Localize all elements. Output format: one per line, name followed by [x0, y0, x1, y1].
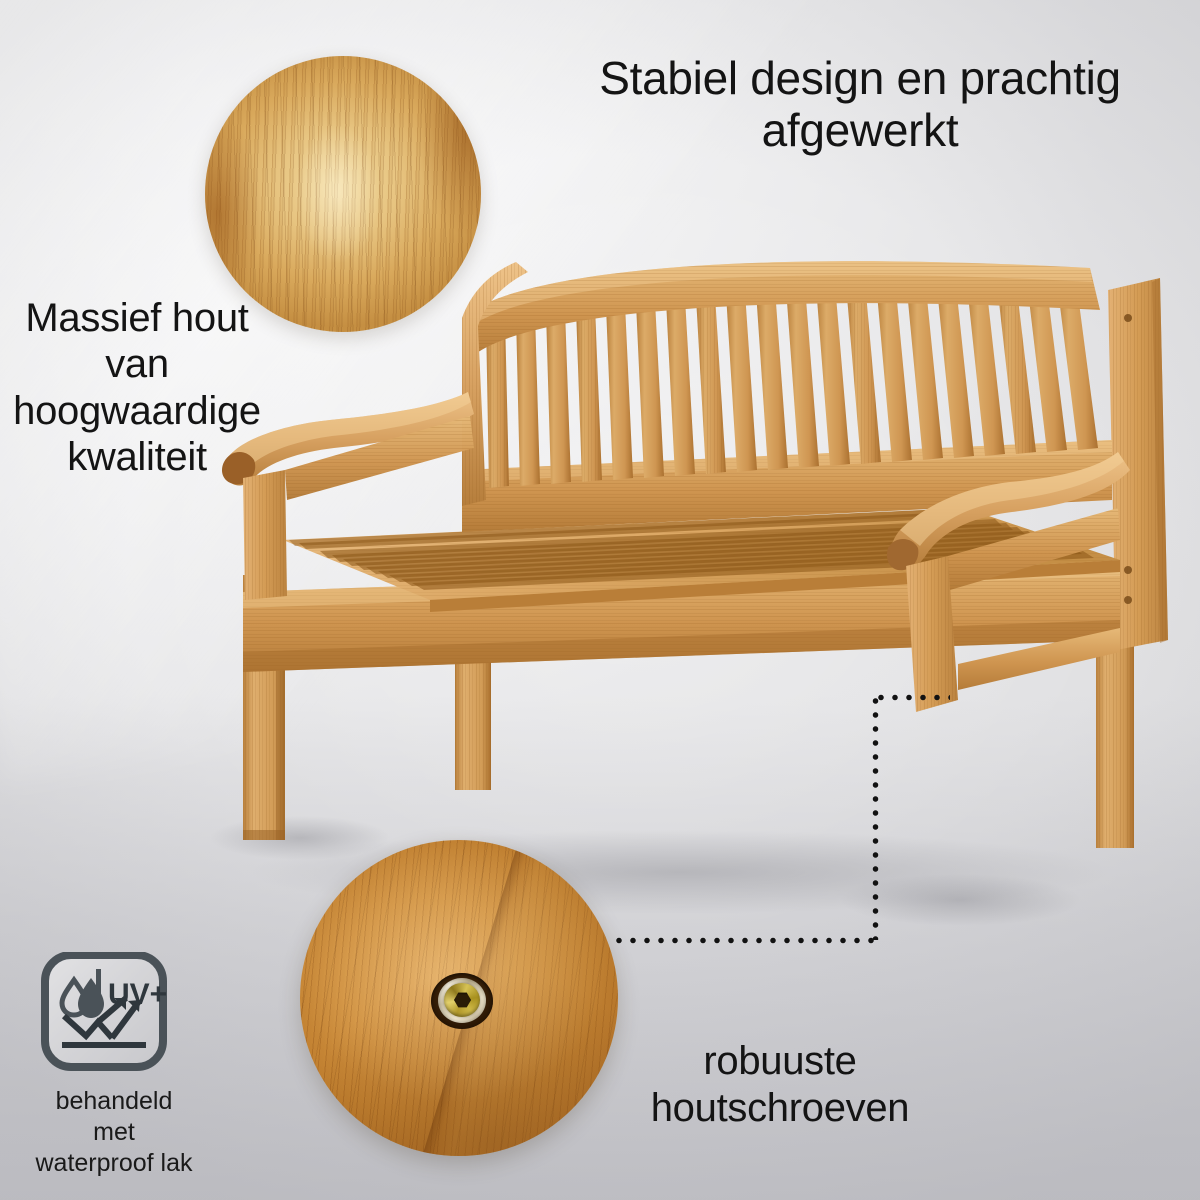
callout-screws-line-2: houtschroeven: [600, 1085, 960, 1132]
headline: Stabiel design en prachtig afgewerkt: [540, 52, 1180, 157]
callout-leader-top-segment: [874, 694, 950, 701]
headline-line-2: afgewerkt: [540, 104, 1180, 156]
screw-detail-circle: [300, 840, 618, 1156]
callout-leader-bottom-segment: [612, 937, 880, 944]
product-image-canvas: Stabiel design en prachtig afgewerkt Mas…: [0, 0, 1200, 1200]
badge-caption-line-2: met: [8, 1117, 220, 1148]
waterproof-uv-lacquer-icon: UV+: [40, 952, 168, 1072]
badge-caption: behandeld met waterproof lak: [8, 1086, 220, 1179]
callout-screws-text: robuuste houtschroeven: [600, 1038, 960, 1132]
callout-wood-line-2: van: [0, 341, 278, 387]
callout-wood-line-4: kwaliteit: [0, 434, 278, 480]
callout-wood-line-3: hoogwaardige: [0, 388, 278, 434]
badge-caption-line-3: waterproof lak: [8, 1148, 220, 1179]
callout-wood-quality-text: Massief hout van hoogwaardige kwaliteit: [0, 295, 278, 481]
badge-caption-line-1: behandeld: [8, 1086, 220, 1117]
callout-leader-vertical-segment: [872, 694, 879, 940]
wood-grain-detail-circle: [205, 56, 481, 332]
screw-head-icon: [431, 973, 493, 1029]
screw-circle-corner-cut: [300, 1052, 447, 1156]
headline-line-1: Stabiel design en prachtig: [540, 52, 1180, 104]
callout-wood-line-1: Massief hout: [0, 295, 278, 341]
callout-screws-line-1: robuuste: [600, 1038, 960, 1085]
wood-grain-highlight: [277, 95, 398, 294]
